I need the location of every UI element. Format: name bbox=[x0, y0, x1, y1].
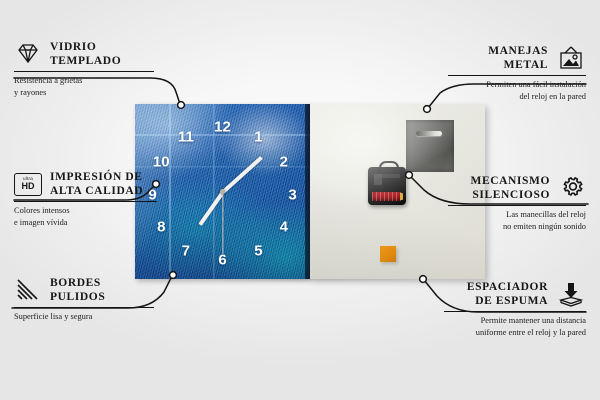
connector-dot-bordes-pulidos bbox=[170, 272, 177, 279]
callout-title: ESPACIADOR DE ESPUMA bbox=[467, 280, 548, 308]
callout-title: MECANISMO SILENCIOSO bbox=[470, 174, 550, 202]
callout-espaciador-de-espuma: ESPACIADOR DE ESPUMA Permite mantener un… bbox=[444, 280, 586, 339]
callout-title: MANEJAS METAL bbox=[488, 44, 548, 72]
callout-header: BORDES PULIDOS bbox=[14, 276, 154, 304]
callout-body: Las manecillas del reloj no emiten ningú… bbox=[448, 209, 586, 232]
callout-divider bbox=[448, 75, 586, 76]
callout-header: ESPACIADOR DE ESPUMA bbox=[444, 280, 586, 308]
callout-title: VIDRIO TEMPLADO bbox=[50, 40, 121, 68]
callout-body: Resistencia a grietas y rayones bbox=[14, 75, 154, 98]
callout-mecanismo-silencioso: MECANISMO SILENCIOSO Las manecillas del … bbox=[448, 174, 586, 233]
callout-title: IMPRESIÓN DE ALTA CALIDAD bbox=[50, 170, 143, 198]
ultra-hd-badge-icon: ultra HD bbox=[14, 173, 42, 196]
callout-title: BORDES PULIDOS bbox=[50, 276, 105, 304]
diamond-icon bbox=[14, 42, 42, 66]
picture-frame-hanger-icon bbox=[556, 45, 586, 71]
callout-header: VIDRIO TEMPLADO bbox=[14, 40, 154, 68]
callout-divider bbox=[444, 311, 586, 312]
ultra-hd-badge-hd-text: HD bbox=[22, 182, 35, 191]
callout-divider bbox=[448, 205, 586, 206]
callout-bordes-pulidos: BORDES PULIDOS Superficie lisa y segura bbox=[14, 276, 154, 323]
callout-vidrio-templado: VIDRIO TEMPLADO Resistencia a grietas y … bbox=[14, 40, 154, 99]
callout-body: Superficie lisa y segura bbox=[14, 311, 154, 323]
callout-divider bbox=[14, 71, 154, 72]
callout-divider bbox=[14, 201, 157, 202]
callout-body: Permite mantener una distancia uniforme … bbox=[444, 315, 586, 338]
callout-header: MECANISMO SILENCIOSO bbox=[448, 174, 586, 202]
connector-dot-mecanismo bbox=[406, 172, 413, 179]
foam-spacer-arrow-icon bbox=[556, 281, 586, 307]
infographic-canvas: 12 1 2 3 4 5 6 7 8 9 10 11 bbox=[0, 0, 600, 400]
callout-body: Permiten una fácil instalación del reloj… bbox=[448, 79, 586, 102]
callout-manejas-metal: MANEJAS METAL Permiten una fácil instala… bbox=[448, 44, 586, 103]
connector-dot-manejas-metal bbox=[424, 106, 431, 113]
callout-impresion-alta-calidad: ultra HD IMPRESIÓN DE ALTA CALIDAD Color… bbox=[14, 170, 157, 229]
callout-header: MANEJAS METAL bbox=[448, 44, 586, 72]
callout-header: ultra HD IMPRESIÓN DE ALTA CALIDAD bbox=[14, 170, 157, 198]
polished-edge-icon bbox=[14, 278, 42, 302]
callout-divider bbox=[14, 307, 154, 308]
connector-dot-espaciador bbox=[420, 276, 427, 283]
connector-dot-vidrio-templado bbox=[178, 102, 185, 109]
gear-icon bbox=[558, 175, 586, 201]
callout-body: Colores intensos e imagen vívida bbox=[14, 205, 157, 228]
